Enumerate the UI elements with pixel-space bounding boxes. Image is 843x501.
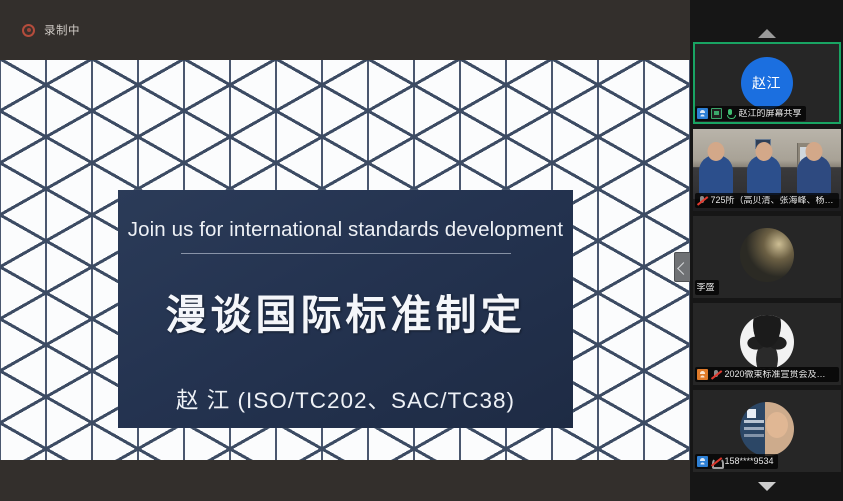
tile-namebar: 李盛 — [695, 280, 719, 295]
host-orange-icon — [697, 369, 708, 380]
presentation-slide[interactable]: Join us for international standards deve… — [0, 60, 690, 460]
participant-tile-lisheng[interactable]: 李盛 — [693, 216, 841, 298]
avatar-head-shape — [766, 412, 788, 438]
participant-name: 2020微束标准宣贯会及教育… — [725, 370, 835, 379]
avatar — [740, 402, 794, 456]
person-shape — [747, 155, 781, 195]
screen-share-icon — [711, 108, 722, 119]
participant-name: 158****9534 — [725, 457, 774, 466]
slide-title-card: Join us for international standards deve… — [118, 190, 573, 428]
slide-author: 赵 江 (ISO/TC202、SAC/TC38) — [176, 383, 515, 415]
tile-namebar: 2020微束标准宣贯会及教育… — [695, 367, 839, 382]
mic-on-icon — [725, 108, 736, 119]
avatar-badge-shape — [747, 409, 756, 418]
record-dot-icon — [22, 24, 35, 37]
participant-tile-screen-share[interactable]: 赵江 赵江的屏幕共享 — [693, 42, 841, 124]
slide-title-divider — [181, 253, 511, 254]
tile-namebar: 158****9534 — [695, 454, 778, 469]
slide-title-chinese: 漫谈国际标准制定 — [166, 281, 526, 341]
cartoon-face-icon — [740, 315, 794, 369]
scroll-down-button[interactable] — [690, 477, 843, 495]
person-shape — [797, 155, 831, 195]
phone-muted-icon — [711, 456, 722, 467]
chevron-down-icon — [758, 482, 776, 491]
participant-name: 李盛 — [697, 283, 715, 292]
chevron-up-icon — [758, 29, 776, 38]
participant-tile-2020-seminar[interactable]: 2020微束标准宣贯会及教育… — [693, 303, 841, 385]
avatar-text-shape — [744, 420, 764, 423]
tile-namebar: 725所（高贝清、张海峰、杨晓等） — [695, 193, 839, 208]
avatar — [740, 228, 794, 282]
mic-muted-icon — [711, 369, 722, 380]
recording-indicator[interactable]: 录制中 — [22, 22, 80, 38]
person-shape — [699, 155, 733, 195]
participant-name: 725所（高贝清、张海峰、杨晓等） — [711, 196, 835, 205]
host-icon — [697, 456, 708, 467]
shared-screen-stage[interactable]: 录制中 Join us for international standards … — [0, 0, 690, 501]
meeting-window: 录制中 Join us for international standards … — [0, 0, 843, 501]
tile-namebar: 赵江的屏幕共享 — [695, 106, 806, 121]
avatar — [740, 315, 794, 369]
avatar: 赵江 — [741, 57, 793, 109]
mic-muted-icon — [697, 195, 708, 206]
scroll-up-button[interactable] — [690, 24, 843, 42]
host-icon — [697, 108, 708, 119]
participant-rail[interactable]: 赵江 赵江的屏幕共享 725所（高贝清、张海峰、杨晓等 — [690, 0, 843, 501]
recording-label: 录制中 — [44, 22, 80, 38]
recording-topbar: 录制中 — [0, 0, 690, 60]
participant-name: 赵江的屏幕共享 — [739, 109, 802, 118]
stage-bottom-bar — [0, 460, 690, 501]
participant-tile-phone-user[interactable]: 158****9534 — [693, 390, 841, 472]
slide-title-english: Join us for international standards deve… — [128, 218, 563, 242]
participant-tile-725-room[interactable]: 725所（高贝清、张海峰、杨晓等） — [693, 129, 841, 211]
collapse-panel-handle[interactable] — [674, 252, 690, 282]
